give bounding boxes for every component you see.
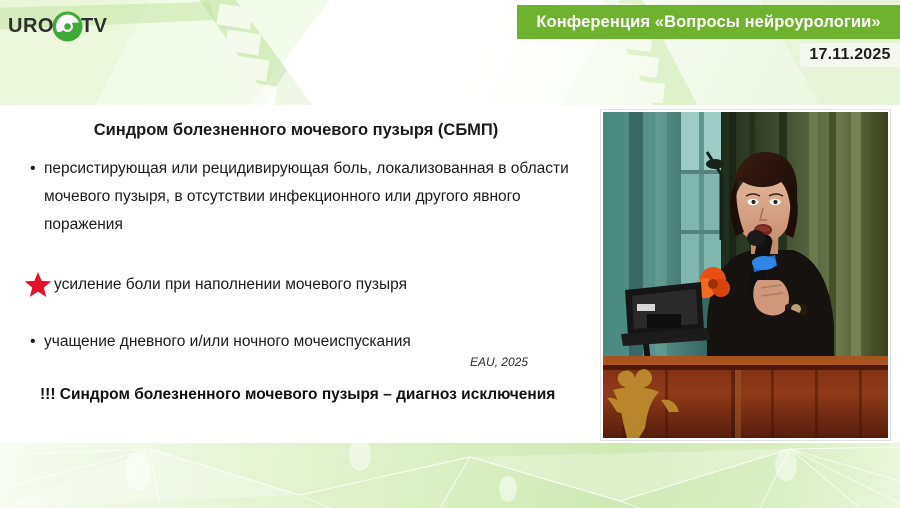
- bullet-marker-dot: •: [26, 155, 44, 183]
- logo-text-tv: TV: [81, 16, 108, 36]
- conference-title-banner: Конференция «Вопросы нейроурологии»: [517, 5, 900, 39]
- presentation-screen: URO TV Конференция «Вопросы нейроурологи…: [0, 0, 900, 508]
- slide-conclusion: !!! Синдром болезненного мочевого пузыря…: [40, 386, 588, 404]
- bullet-item-1: • персистирующая или рецидивирующая боль…: [26, 155, 586, 239]
- bullet-marker-dot: •: [26, 331, 44, 353]
- footer-bar: [0, 443, 900, 508]
- speaker-video-feed[interactable]: [601, 110, 890, 440]
- urotv-logo: URO TV: [8, 8, 126, 44]
- bullet-item-3: • учащение дневного и/или ночного мочеис…: [26, 331, 586, 353]
- bullet-item-2: усиление боли при наполнении мочевого пу…: [24, 271, 584, 298]
- date-badge: 17.11.2025: [800, 43, 900, 67]
- logo-text-uro: URO: [8, 16, 54, 36]
- bullet-text-2: усиление боли при наполнении мочевого пу…: [54, 274, 407, 296]
- date-label: 17.11.2025: [809, 46, 890, 64]
- bullet-text-3: учащение дневного и/или ночного мочеиспу…: [44, 331, 411, 353]
- conference-title-label: Конференция «Вопросы нейроурологии»: [536, 13, 880, 32]
- bullet-text-1: персистирующая или рецидивирующая боль, …: [44, 155, 574, 239]
- footer-polygon-network-decoration: [0, 443, 900, 508]
- slide-title: Синдром болезненного мочевого пузыря (СБ…: [0, 121, 592, 140]
- urotv-circular-emblem-icon: [51, 10, 84, 43]
- red-star-icon: [24, 271, 52, 298]
- source-citation: EAU, 2025: [0, 355, 528, 369]
- header-bar: URO TV Конференция «Вопросы нейроурологи…: [0, 0, 900, 105]
- speaker-video-frame: [603, 112, 888, 438]
